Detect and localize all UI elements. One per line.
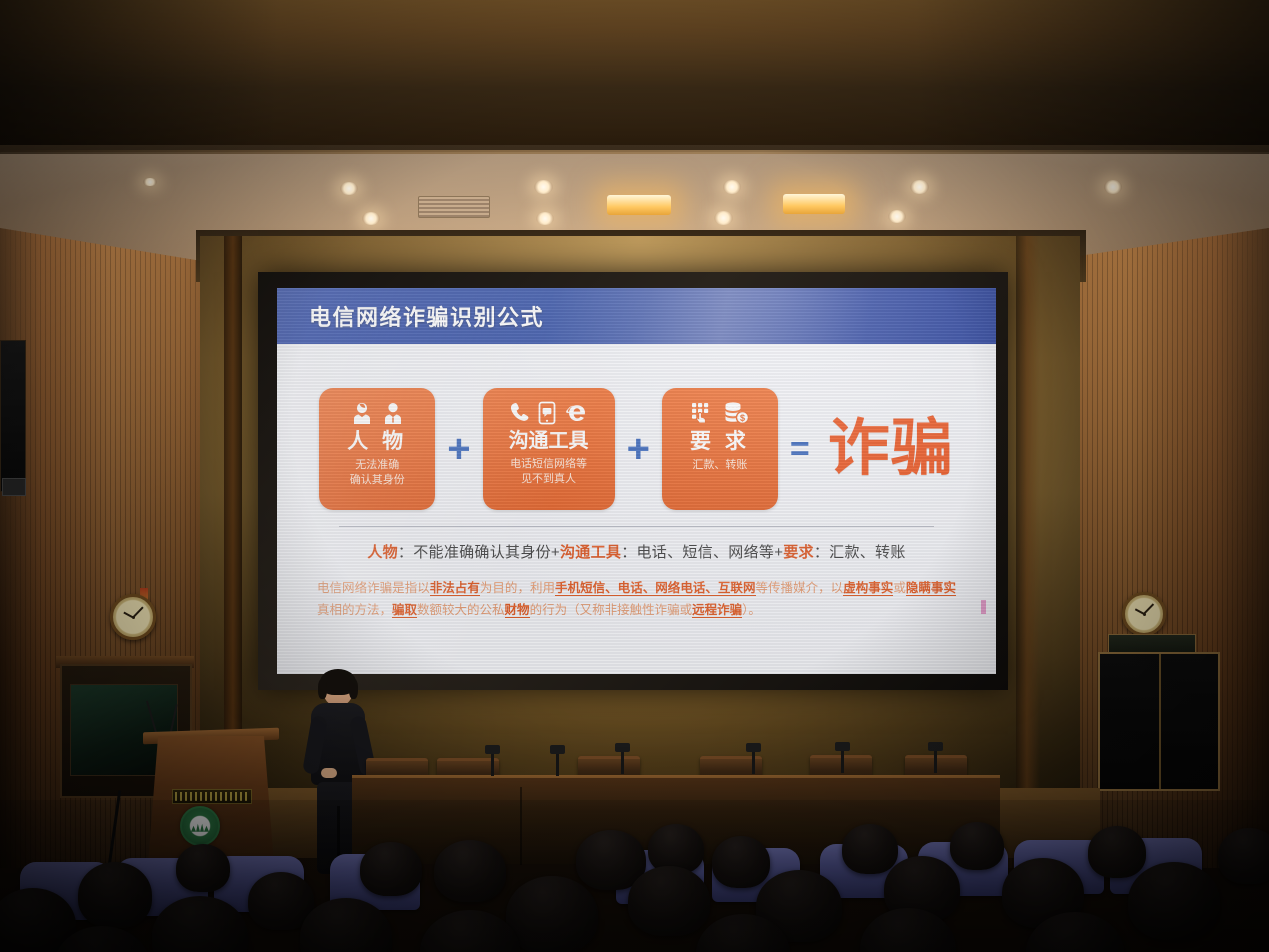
def-seg-11: 财物 bbox=[505, 603, 530, 618]
internet-explorer-icon bbox=[565, 401, 589, 425]
def-seg-13: 远程诈骗 bbox=[692, 603, 742, 618]
def-seg-7: 隐瞒事实 bbox=[906, 581, 956, 596]
formula-term-demand: 要求 bbox=[783, 544, 814, 561]
formula-text-line: 人物：不能准确确认其身份+沟通工具：电话、短信、网络等+要求：汇款、转账 bbox=[303, 541, 970, 562]
person-female-icon bbox=[351, 401, 373, 425]
slide-corner-mark bbox=[981, 600, 986, 614]
formula-term-person: 人物 bbox=[367, 544, 398, 561]
ceiling-downlight bbox=[714, 211, 733, 225]
slide-header: 电信网络诈骗识别公式 bbox=[277, 288, 996, 344]
formula-result-fraud: 诈骗 bbox=[828, 418, 954, 480]
def-seg-10: 数额较大的公私 bbox=[417, 603, 505, 617]
ceiling-downlight bbox=[534, 180, 553, 194]
wall-corner-right bbox=[1016, 236, 1040, 836]
telephone-icon bbox=[508, 401, 529, 425]
def-seg-12: 的行为（又称非接触性诈骗或 bbox=[530, 603, 693, 617]
ceiling-downlight bbox=[1104, 180, 1122, 194]
slide-body: 人 物 无法准确 确认其身份 + bbox=[277, 388, 996, 622]
ceiling-downlight bbox=[143, 178, 157, 186]
def-seg-1: 非法占有 bbox=[430, 581, 480, 596]
formula-text-3: ：汇款、转账 bbox=[814, 544, 906, 561]
ceiling-downlight bbox=[888, 210, 906, 223]
formula-box-title: 沟通工具 bbox=[509, 430, 589, 452]
ceiling-downlight bbox=[362, 212, 380, 225]
ceiling-downlight bbox=[536, 212, 554, 225]
slide-divider bbox=[339, 526, 934, 527]
presenter-hand bbox=[321, 768, 337, 778]
table-microphone bbox=[841, 749, 844, 773]
operator-plus-2: + bbox=[625, 429, 652, 469]
formula-box-subtitle: 汇款、转账 bbox=[692, 458, 747, 473]
def-seg-2: 为目的，利用 bbox=[480, 581, 555, 595]
formula-box-title: 人 物 bbox=[347, 430, 407, 453]
table-microphone bbox=[491, 752, 494, 776]
formula-box-demand: $ 要 求 汇款、转账 bbox=[662, 388, 778, 510]
formula-box-title: 要 求 bbox=[690, 430, 750, 453]
table-microphone bbox=[752, 750, 755, 774]
def-seg-0: 电信网络诈骗是指以 bbox=[317, 581, 430, 595]
audience-shading bbox=[0, 800, 1269, 952]
formula-box-subtitle: 电话短信网络等 见不到真人 bbox=[510, 457, 587, 487]
ceiling-downlight bbox=[910, 180, 929, 194]
ceiling-downlight bbox=[723, 180, 741, 194]
def-seg-8: 真相的方法， bbox=[317, 603, 392, 617]
wall-clock-left bbox=[110, 594, 156, 640]
def-seg-9: 骗取 bbox=[392, 603, 417, 618]
ceiling-panel-light bbox=[783, 194, 845, 214]
audience-area bbox=[0, 800, 1269, 952]
def-seg-5: 虚构事实 bbox=[843, 581, 893, 596]
ceiling-air-vent bbox=[418, 196, 490, 218]
ceiling-edge-line bbox=[0, 150, 1269, 154]
table-microphone bbox=[934, 749, 937, 773]
keypad-tap-icon bbox=[690, 401, 714, 425]
auditorium-photo: 电信网络诈骗识别公式 bbox=[0, 0, 1269, 952]
ceiling-downlight bbox=[340, 182, 358, 195]
def-seg-4: 等传播媒介，以 bbox=[756, 581, 844, 595]
def-seg-6: 或 bbox=[893, 581, 906, 595]
operator-equals: = bbox=[788, 432, 812, 466]
ceiling-panel-light bbox=[607, 195, 671, 215]
wall-clock-right bbox=[1122, 592, 1166, 636]
formula-box-sub-line-1: 电话短信网络等 bbox=[510, 457, 587, 472]
presenter-hair bbox=[320, 669, 356, 695]
formula-term-tool: 沟通工具 bbox=[560, 544, 621, 561]
fraud-formula-row: 人 物 无法准确 确认其身份 + bbox=[303, 388, 970, 510]
formula-box-icons: $ bbox=[690, 398, 749, 428]
formula-box-sub-line-1: 无法准确 bbox=[350, 458, 405, 473]
formula-box-sub-line-2: 确认其身份 bbox=[350, 473, 405, 488]
formula-box-person: 人 物 无法准确 确认其身份 bbox=[319, 388, 435, 510]
ceiling-upper-dark bbox=[0, 0, 1269, 160]
operator-plus-1: + bbox=[445, 429, 472, 469]
formula-box-icons bbox=[508, 398, 589, 428]
formula-box-sub-line-1: 汇款、转账 bbox=[692, 458, 747, 473]
wall-outlet-plate bbox=[2, 478, 26, 496]
formula-box-sub-line-2: 见不到真人 bbox=[510, 472, 587, 487]
formula-text-1: ：不能准确确认其身份+ bbox=[398, 544, 560, 561]
table-microphone bbox=[621, 750, 624, 774]
svg-text:$: $ bbox=[740, 413, 745, 423]
def-seg-3: 手机短信、电话、网络电话、互联网 bbox=[555, 581, 755, 596]
money-stack-icon: $ bbox=[723, 401, 749, 425]
fraud-definition-paragraph: 电信网络诈骗是指以非法占有为目的，利用手机短信、电话、网络电话、互联网等传播媒介… bbox=[317, 578, 956, 622]
formula-box-communication-tool: 沟通工具 电话短信网络等 见不到真人 bbox=[483, 388, 615, 510]
wall-display-cabinet bbox=[1098, 652, 1220, 791]
presentation-slide[interactable]: 电信网络诈骗识别公式 bbox=[277, 288, 996, 674]
formula-box-icons bbox=[351, 398, 404, 428]
clock-center-dot bbox=[1143, 613, 1146, 616]
formula-box-subtitle: 无法准确 确认其身份 bbox=[350, 458, 405, 488]
def-seg-14: ）。 bbox=[742, 603, 761, 617]
wall-speaker bbox=[0, 340, 26, 492]
clock-center-dot bbox=[132, 616, 135, 619]
table-microphone bbox=[556, 752, 559, 776]
slide-title: 电信网络诈骗识别公式 bbox=[309, 300, 544, 332]
formula-text-2: ：电话、短信、网络等+ bbox=[621, 544, 783, 561]
person-male-icon bbox=[382, 401, 404, 425]
smartphone-message-icon bbox=[538, 401, 556, 425]
